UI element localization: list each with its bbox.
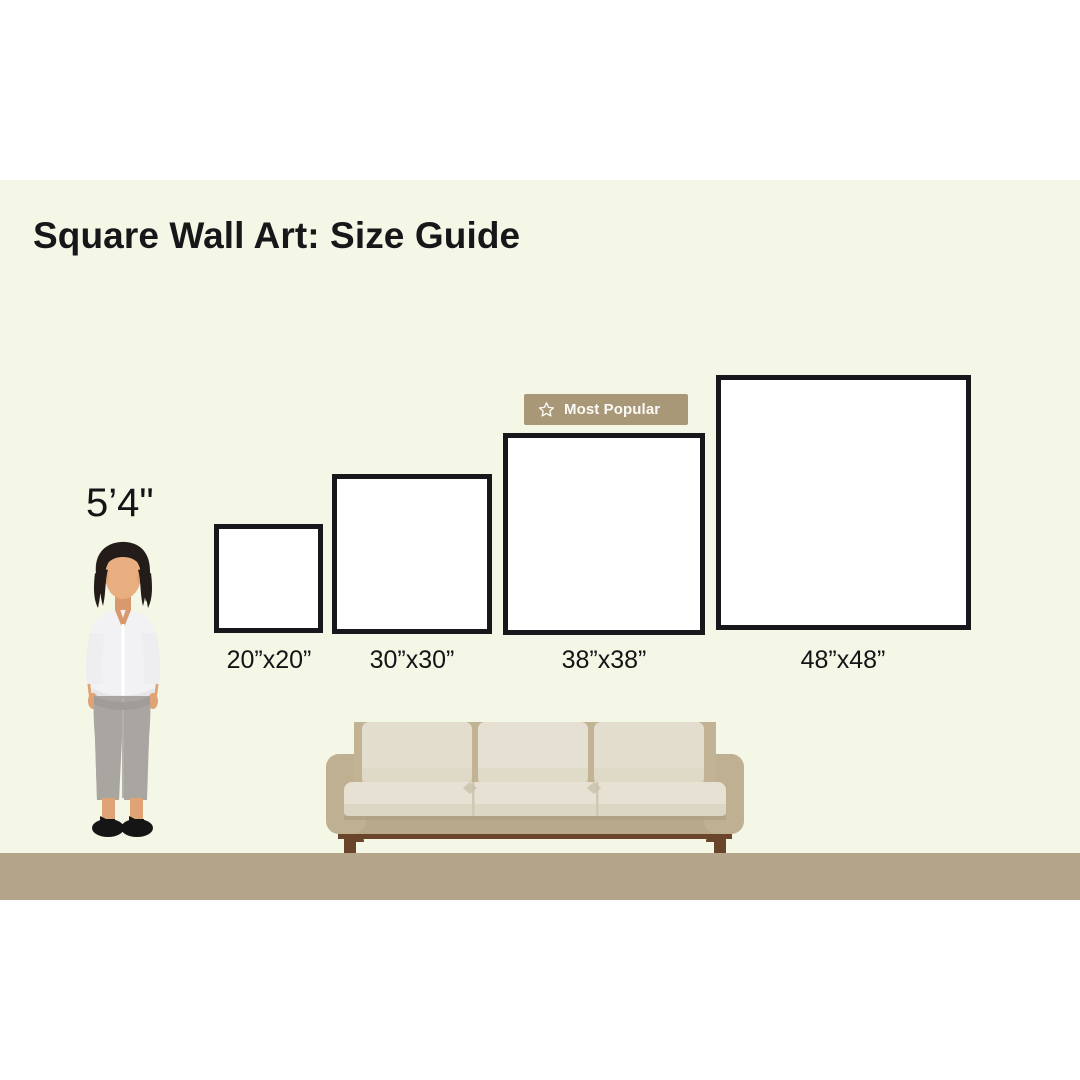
- frame-size-label-30: 30”x30”: [348, 646, 476, 675]
- badge-label: Most Popular: [564, 401, 660, 418]
- room-scene: Square Wall Art: Size Guide 5’4": [0, 180, 1080, 900]
- art-frame-20[interactable]: [214, 524, 323, 633]
- frame-size-label-38: 38”x38”: [540, 646, 668, 675]
- size-guide-infographic: Square Wall Art: Size Guide 5’4": [0, 0, 1080, 1080]
- frame-size-label-20: 20”x20”: [205, 646, 333, 675]
- three-seat-sofa: [310, 708, 760, 868]
- art-frame-30[interactable]: [332, 474, 492, 634]
- page-title: Square Wall Art: Size Guide: [33, 215, 520, 257]
- status-badge: Most Popular: [524, 394, 688, 425]
- art-frame-38[interactable]: [503, 433, 705, 635]
- star-outline-icon: [538, 401, 555, 418]
- frame-size-label-48: 48”x48”: [779, 646, 907, 675]
- art-frame-48[interactable]: [716, 375, 971, 630]
- woman-figure: [63, 538, 183, 860]
- height-reference-label: 5’4": [86, 481, 154, 526]
